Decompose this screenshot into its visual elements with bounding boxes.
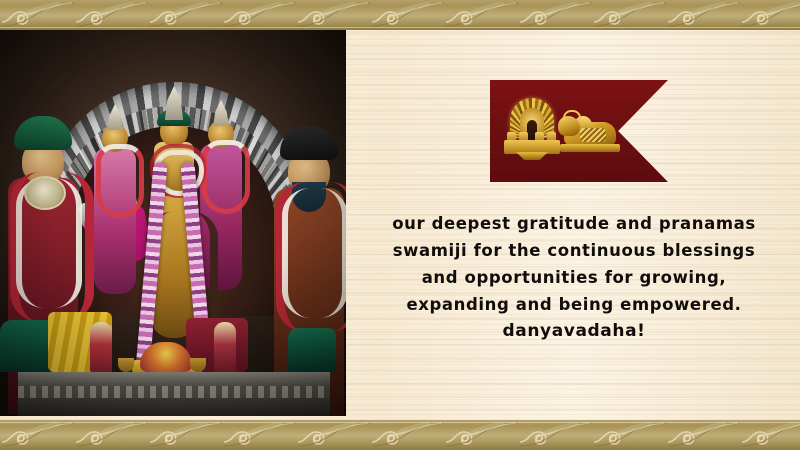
message-line-1: our deepest gratitude and pranamas <box>356 210 792 237</box>
scroll-pattern-icon <box>0 0 800 30</box>
message-line-4: expanding and being empowered. <box>356 291 792 318</box>
greeting-card-canvas: Nanu Nanu Nanu Nanu Nanu Nanu Nanu Nanu … <box>0 0 800 450</box>
nandi-ornament <box>580 128 606 142</box>
nandi-base <box>560 144 620 152</box>
emblem-plinth-base <box>516 152 548 160</box>
nandi-horns <box>563 110 581 120</box>
emblem-plinth <box>504 140 560 154</box>
top-border-ornament <box>0 0 800 30</box>
bottom-border-ornament <box>0 420 800 450</box>
deity-throne-emblem-icon <box>502 98 562 166</box>
deity-photograph <box>0 30 346 416</box>
border-hairline <box>0 422 800 423</box>
scroll-pattern-icon <box>0 420 800 450</box>
nandi-bull-emblem-icon <box>558 112 624 158</box>
gratitude-message: our deepest gratitude and pranamas swami… <box>356 210 792 345</box>
message-line-3: and opportunities for growing, <box>356 264 792 291</box>
message-line-5: danyavadaha! <box>356 318 792 345</box>
border-hairline <box>0 27 800 28</box>
photo-scene <box>0 30 346 416</box>
message-line-2: swamiji for the continuous blessings <box>356 237 792 264</box>
photo-vignette <box>0 30 346 416</box>
